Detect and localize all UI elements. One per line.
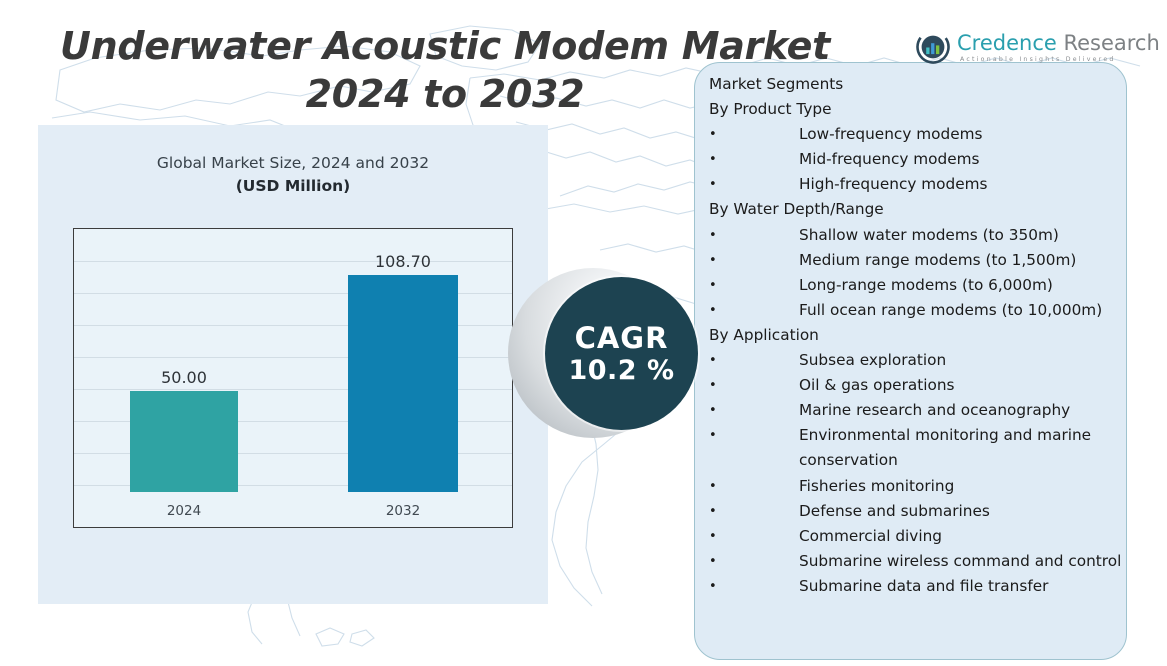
chart-heading: Global Market Size, 2024 and 2032 (USD M… xyxy=(38,152,548,198)
chart-subtitle: (USD Million) xyxy=(38,174,548,198)
segment-item-label: Mid-frequency modems xyxy=(799,147,1122,172)
segment-list-item[interactable]: •Submarine data and file transfer xyxy=(709,574,1122,599)
bullet-icon: • xyxy=(709,172,799,197)
segment-item-label: Marine research and oceanography xyxy=(799,398,1122,423)
segment-item-label: Fisheries monitoring xyxy=(799,474,1122,499)
chart-title: Global Market Size, 2024 and 2032 xyxy=(38,152,548,174)
bar-chart-circle-icon xyxy=(916,30,950,64)
segment-list-item[interactable]: •Submarine wireless command and control xyxy=(709,549,1122,574)
title-line-2: 2024 to 2032 xyxy=(60,70,830,118)
segment-item-label: Oil & gas operations xyxy=(799,373,1122,398)
bullet-icon: • xyxy=(709,223,799,248)
segment-list-item[interactable]: •Fisheries monitoring xyxy=(709,474,1122,499)
segment-list-item[interactable]: •Marine research and oceanography xyxy=(709,398,1122,423)
segment-item-label: Low-frequency modems xyxy=(799,122,1122,147)
segment-list-item[interactable]: •Oil & gas operations xyxy=(709,373,1122,398)
cagr-value: 10.2 % xyxy=(568,355,674,387)
logo-brand-secondary: Research xyxy=(1057,31,1160,55)
segment-list-item[interactable]: •Defense and submarines xyxy=(709,499,1122,524)
logo-tagline: Actionable Insights Delivered xyxy=(960,56,1160,63)
page-title: Underwater Acoustic Modem Market 2024 to… xyxy=(60,22,830,118)
bullet-icon: • xyxy=(709,499,799,524)
bar-2024[interactable] xyxy=(130,391,238,492)
bar-2032[interactable] xyxy=(348,275,458,492)
title-line-1: Underwater Acoustic Modem Market xyxy=(60,22,830,70)
segment-list-item[interactable]: •Medium range modems (to 1,500m) xyxy=(709,248,1122,273)
logo-text-block: Credence Research Actionable Insights De… xyxy=(957,32,1160,63)
segment-item-label: Subsea exploration xyxy=(799,348,1122,373)
segment-item-label: Defense and submarines xyxy=(799,499,1122,524)
bar-label-2024: 2024 xyxy=(130,503,238,519)
segment-item-label: Environmental monitoring and marine cons… xyxy=(799,423,1122,473)
segment-item-label: Shallow water modems (to 350m) xyxy=(799,223,1122,248)
bullet-icon: • xyxy=(709,122,799,147)
bullet-icon: • xyxy=(709,574,799,599)
cagr-badge: CAGR 10.2 % xyxy=(508,250,723,465)
bullet-icon: • xyxy=(709,549,799,574)
segment-list-item[interactable]: •Low-frequency modems xyxy=(709,122,1122,147)
segment-list-item[interactable]: •Mid-frequency modems xyxy=(709,147,1122,172)
segment-list-item[interactable]: •Commercial diving xyxy=(709,524,1122,549)
bar-label-2032: 2032 xyxy=(348,503,458,519)
segment-group-heading: By Water Depth/Range xyxy=(709,197,1122,222)
logo-wordmark: Credence Research xyxy=(957,32,1160,54)
segment-item-label: Commercial diving xyxy=(799,524,1122,549)
segment-item-label: Long-range modems (to 6,000m) xyxy=(799,273,1122,298)
segment-item-label: Full ocean range modems (to 10,000m) xyxy=(799,298,1122,323)
market-segments-panel: Market SegmentsBy Product Type•Low-frequ… xyxy=(694,62,1127,660)
market-segments-list: Market SegmentsBy Product Type•Low-frequ… xyxy=(709,72,1122,599)
segment-item-label: Medium range modems (to 1,500m) xyxy=(799,248,1122,273)
segment-group-heading: By Application xyxy=(709,323,1122,348)
cagr-label: CAGR xyxy=(575,321,669,355)
segment-list-item[interactable]: •High-frequency modems xyxy=(709,172,1122,197)
bullet-icon: • xyxy=(709,524,799,549)
segment-list-item[interactable]: •Environmental monitoring and marine con… xyxy=(709,423,1122,473)
bar-value-2032: 108.70 xyxy=(348,252,458,271)
segment-item-label: Submarine wireless command and control xyxy=(799,549,1122,574)
bar-chart-plot-area: 50.00 108.70 2024 2032 xyxy=(73,228,513,528)
segment-item-label: High-frequency modems xyxy=(799,172,1122,197)
segment-list-item[interactable]: •Full ocean range modems (to 10,000m) xyxy=(709,298,1122,323)
segment-list-item[interactable]: •Shallow water modems (to 350m) xyxy=(709,223,1122,248)
bar-value-2024: 50.00 xyxy=(130,368,238,387)
segment-item-label: Submarine data and file transfer xyxy=(799,574,1122,599)
logo-brand-primary: Credence xyxy=(957,31,1057,55)
bullet-icon: • xyxy=(709,474,799,499)
segment-list-item[interactable]: •Long-range modems (to 6,000m) xyxy=(709,273,1122,298)
credence-research-logo[interactable]: Credence Research Actionable Insights De… xyxy=(916,30,1160,64)
bullet-icon: • xyxy=(709,147,799,172)
cagr-circle: CAGR 10.2 % xyxy=(545,277,698,430)
infographic-page: Underwater Acoustic Modem Market 2024 to… xyxy=(0,0,1167,666)
segment-list-item[interactable]: •Subsea exploration xyxy=(709,348,1122,373)
